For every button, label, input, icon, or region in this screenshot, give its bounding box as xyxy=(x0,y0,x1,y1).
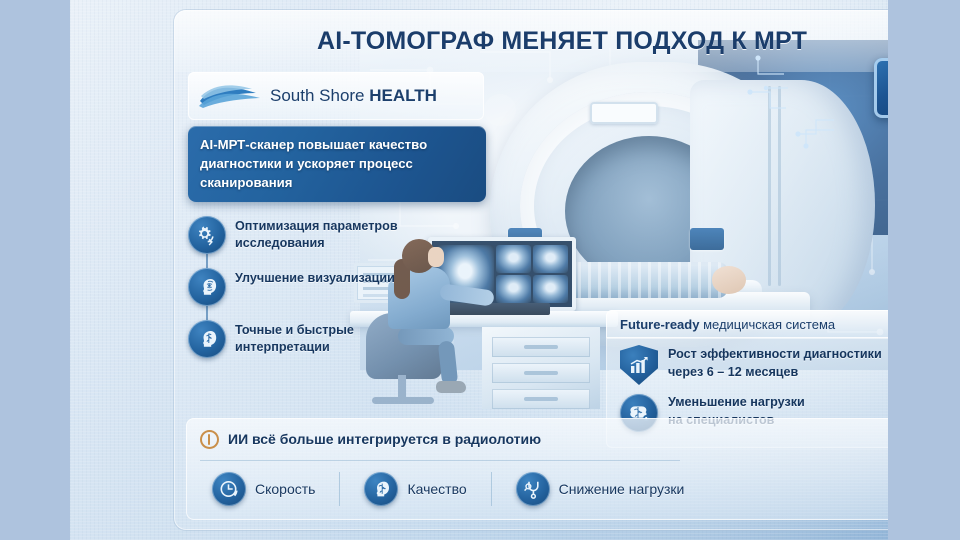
gears-glyph xyxy=(195,223,219,247)
clock-speed-icon xyxy=(212,472,246,506)
clock-glyph xyxy=(218,478,240,500)
integration-note: ИИ всё больше интегрируется в радиолотию xyxy=(186,418,888,460)
future-ready-title-rest: медицичская система xyxy=(699,317,835,332)
brand-name-bold: HEALTH xyxy=(369,86,437,105)
future-ready-row-text: Рост эффективности диагностики через 6 –… xyxy=(668,346,882,382)
benefit-chip-label: Снижение нагрузки xyxy=(559,481,685,497)
future-ready-row-line1: Рост эффективности диагностики xyxy=(668,346,882,364)
bottom-summary-bar: ИИ всё больше интегрируется в радиолотию… xyxy=(186,418,888,520)
feature-item-optimization[interactable]: Оптимизация параметров исследования xyxy=(188,216,438,268)
chip-divider xyxy=(339,472,340,506)
feature-item-visualization[interactable]: Улучшение визуализации xyxy=(188,268,438,320)
exclamation-circle-icon xyxy=(200,430,219,449)
head-visualization-icon xyxy=(188,268,226,306)
brand-name-light: South Shore xyxy=(270,86,369,105)
key-statement-text: AI-МРТ-сканер повышает качество диагност… xyxy=(200,135,474,192)
benefit-chip-workload[interactable]: Снижение нагрузки xyxy=(516,472,709,506)
brand-logo-bar: South Shore HEALTH xyxy=(188,72,484,120)
stethoscope-glyph xyxy=(522,478,544,500)
integration-note-text: ИИ всё больше интегрируется в радиолотию xyxy=(228,431,541,447)
future-ready-row-line2-prefix: через xyxy=(668,365,707,379)
future-ready-card-header: Future-ready медицичская система xyxy=(606,310,888,338)
head-brain-icon xyxy=(188,320,226,358)
stethoscope-icon xyxy=(516,472,550,506)
benefit-chip-label: Качество xyxy=(407,481,466,497)
future-ready-title-bold: Future-ready xyxy=(620,317,699,332)
chip-divider xyxy=(491,472,492,506)
benefit-chip-quality[interactable]: Качество xyxy=(364,472,490,506)
section-divider xyxy=(200,460,680,461)
future-ready-row-line1: Уменьшение нагрузки xyxy=(668,394,805,412)
gears-icon xyxy=(188,216,226,254)
benefit-chip-speed[interactable]: Скорость xyxy=(212,472,339,506)
shield-growth-chart-icon xyxy=(620,346,658,384)
feature-label: Точные и быстрые интерпретации xyxy=(235,320,438,357)
wave-logo-icon xyxy=(198,81,262,111)
benefit-chip-row: Скорость xyxy=(186,460,888,518)
head-brain-glyph xyxy=(195,327,219,351)
key-statement-banner: AI-МРТ-сканер повышает качество диагност… xyxy=(188,126,486,202)
ai-chip-traces-icon xyxy=(666,38,846,158)
brand-name: South Shore HEALTH xyxy=(270,86,437,106)
infographic-root: AI-ТОМОГРАФ МЕНЯЕТ ПОДХОД К МРТ AI South… xyxy=(0,0,960,540)
feature-label: Улучшение визуализации xyxy=(235,268,395,287)
illustration-canvas: AI-ТОМОГРАФ МЕНЯЕТ ПОДХОД К МРТ AI South… xyxy=(70,0,888,540)
head-visualization-glyph xyxy=(195,275,219,299)
ai-chip-badge: AI xyxy=(874,58,888,118)
future-ready-row-growth[interactable]: Рост эффективности диагностики через 6 –… xyxy=(620,346,888,394)
brain-head-glyph xyxy=(370,478,392,500)
shield-shape xyxy=(620,345,658,385)
feature-item-interpretation[interactable]: Точные и быстрые интерпретации xyxy=(188,320,438,372)
benefit-chip-label: Скорость xyxy=(255,481,315,497)
brain-quality-icon xyxy=(364,472,398,506)
growth-chart-glyph xyxy=(628,355,650,375)
feature-label: Оптимизация параметров исследования xyxy=(235,216,438,253)
feature-stepper-list: Оптимизация параметров исследования xyxy=(188,216,438,372)
future-ready-row-line2-bold: 6 – 12 месяцев xyxy=(707,365,799,379)
